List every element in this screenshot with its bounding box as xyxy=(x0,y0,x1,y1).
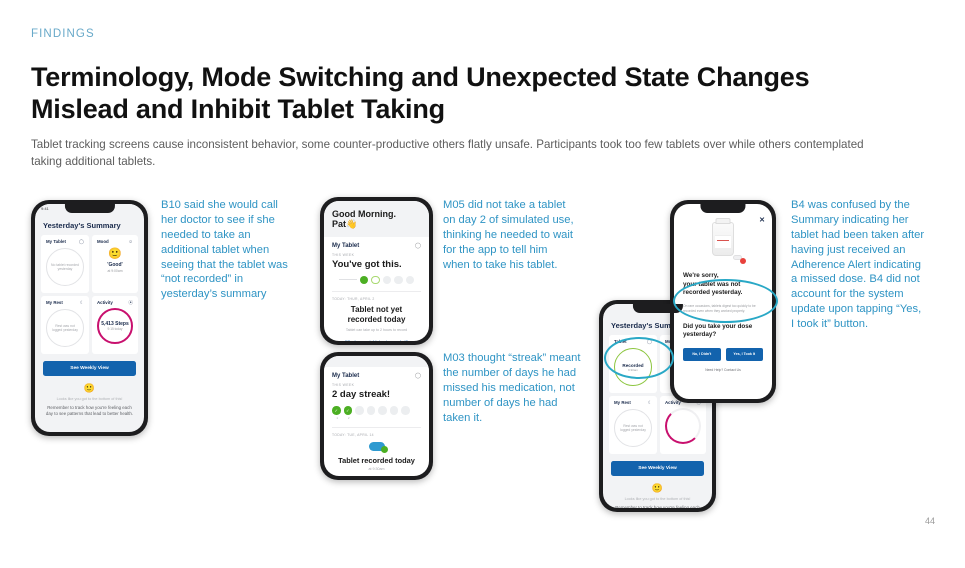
see-weekly-view-button[interactable]: See Weekly View xyxy=(611,461,704,476)
streak-dot[interactable] xyxy=(390,406,399,415)
status-sub: Tablet can take up to 2 hours to record xyxy=(334,328,419,333)
headline: 2 day streak! xyxy=(332,389,421,400)
card-my-rest[interactable]: My Rest ☾ Rest was not logged yesterday xyxy=(41,296,89,354)
greeting-line-2: Pat👋 xyxy=(332,219,421,229)
mood-emoji: 🙂 xyxy=(97,249,133,260)
tablet-recorded-ring: Recorded 9:30am xyxy=(614,348,652,386)
streak-dot-filled[interactable]: ✓ xyxy=(332,406,341,415)
streak-dot-filled[interactable]: ✓ xyxy=(344,406,353,415)
alert-paragraph: On rare occasions, tablets digest too qu… xyxy=(683,304,763,314)
annotation-b10: B10 said she would call her doctor to se… xyxy=(161,198,293,302)
see-weekly-view-button[interactable]: See Weekly View xyxy=(43,361,136,376)
annotation-m03: M03 thought “streak” meant the number of… xyxy=(443,351,581,425)
phone4-footer: 🙂 Looks like you got to the bottom of th… xyxy=(603,476,712,508)
streak-dot[interactable] xyxy=(378,406,387,415)
dots-leading-line xyxy=(339,279,357,280)
annotation-m05: M05 did not take a tablet on day 2 of si… xyxy=(443,198,577,272)
date-row: TODAY: TUE, APRIL 14 xyxy=(324,428,429,437)
card-my-rest[interactable]: My Rest ☾ Rest was not logged yesterday xyxy=(609,396,657,454)
card-tablet[interactable]: Tablet ◯ Recorded 9:30am xyxy=(609,335,657,393)
tablet-ring-text: No tablet recorded yesterday xyxy=(50,263,80,272)
bottle-label xyxy=(715,235,731,249)
streak-day-numbers: 1 2 xyxy=(332,416,421,420)
recorded-status: Tablet recorded today xyxy=(324,456,429,465)
footer-line-2: Remember to track how you're feeling eac… xyxy=(613,505,702,508)
phone-mockup-summary-not-recorded: 9:41 Yesterday's Summary My Tablet ◯ No … xyxy=(31,200,148,436)
tablet-status-block: Tablet not yet recorded today Tablet can… xyxy=(324,301,429,333)
phone-notch xyxy=(632,304,682,313)
status-time: 9:41 xyxy=(41,206,49,211)
streak-dot[interactable] xyxy=(383,276,392,285)
smiley-icon: ☺ xyxy=(128,239,133,244)
page-title: Terminology, Mode Switching and Unexpect… xyxy=(31,62,911,126)
greeting-bar: Good Morning. Pat👋 xyxy=(324,201,429,237)
rest-ring-empty: Rest was not logged yesterday xyxy=(46,309,84,347)
phone1-card-grid: My Tablet ◯ No tablet recorded yesterday… xyxy=(35,235,144,354)
phone5-screen: ✕ We're sorry, your tablet was not recor… xyxy=(674,204,772,399)
status-bar xyxy=(324,356,429,367)
card-title: My Tablet xyxy=(332,243,359,249)
rest-ring-empty: Rest was not logged yesterday xyxy=(614,409,652,447)
footer-emoji: 🙂 xyxy=(45,383,134,394)
phone3-screen: My Tablet ◯ THIS WEEK 2 day streak! ✓ ✓ … xyxy=(324,356,429,476)
day-number: 1 xyxy=(333,416,342,420)
mood-content: 🙂 'Good' at 9:00am xyxy=(97,249,133,273)
footer-line-1: Looks like you got to the bottom of this… xyxy=(613,497,702,501)
card-header-row: My Tablet ◯ xyxy=(332,373,421,379)
tablet-ring-empty: No tablet recorded yesterday xyxy=(46,248,84,286)
card-caption: My Rest xyxy=(614,400,652,405)
footer-line-1: Looks like you got to the bottom of this… xyxy=(45,397,134,401)
tablet-icon: ◯ xyxy=(415,373,421,379)
streak-dots xyxy=(332,276,421,285)
streak-dot[interactable] xyxy=(367,406,376,415)
tablet-ring-sub: 9:30am xyxy=(628,368,638,372)
footer-line-2: Remember to track how you're feeling eac… xyxy=(45,405,134,418)
phone-notch xyxy=(700,204,745,213)
card-my-tablet[interactable]: My Tablet ◯ No tablet recorded yesterday xyxy=(41,235,89,293)
phone2-screen: Good Morning. Pat👋 My Tablet ◯ THIS WEEK… xyxy=(324,201,429,341)
card-mood[interactable]: Mood ☺ 🙂 'Good' at 9:00am xyxy=(92,235,138,293)
streak-dot[interactable] xyxy=(394,276,403,285)
alert-question-1: Did you take your dose xyxy=(683,323,763,332)
headline: You've got this. xyxy=(332,259,421,270)
page-subtitle: Tablet tracking screens cause inconsiste… xyxy=(31,137,876,171)
pill-sensor xyxy=(740,258,746,264)
streak-dot[interactable] xyxy=(406,276,415,285)
this-week-label: THIS WEEK xyxy=(332,383,421,387)
slide: FINDINGS Terminology, Mode Switching and… xyxy=(0,0,965,568)
annotation-b4: B4 was confused by the Summary indicatin… xyxy=(791,198,927,332)
footer-emoji: 🙂 xyxy=(613,483,702,494)
card-activity[interactable]: Activity ⦿ 5,413 Steps 9:15 today xyxy=(92,296,138,354)
tablet-icon: ◯ xyxy=(415,243,421,249)
status-line-2: recorded today xyxy=(334,315,419,325)
moon-icon: ☾ xyxy=(80,300,84,306)
streak-dot[interactable] xyxy=(360,276,369,285)
alert-body: We're sorry, your tablet was not recorde… xyxy=(674,270,772,372)
phone-mockup-adherence-alert: ✕ We're sorry, your tablet was not recor… xyxy=(670,200,776,403)
status-line-1: Tablet not yet xyxy=(334,305,419,315)
phone-mockup-streak: My Tablet ◯ THIS WEEK 2 day streak! ✓ ✓ … xyxy=(320,352,433,480)
phone1-header: Yesterday's Summary xyxy=(35,215,144,235)
alert-headline-3: recorded yesterday. xyxy=(683,289,763,298)
phone-mockup-good-morning: Good Morning. Pat👋 My Tablet ◯ THIS WEEK… xyxy=(320,197,433,345)
alert-headline-1: We're sorry, xyxy=(683,272,763,281)
phone1-footer: 🙂 Looks like you got to the bottom of th… xyxy=(35,376,144,418)
card-activity[interactable]: Activity ⦿ xyxy=(660,396,706,454)
pill-bottle-icon xyxy=(712,222,734,256)
phone1-screen: 9:41 Yesterday's Summary My Tablet ◯ No … xyxy=(35,204,144,432)
mood-value: 'Good' xyxy=(97,262,133,268)
card-caption: My Rest xyxy=(46,300,84,305)
contact-us-link[interactable]: Need Help? Contact Us xyxy=(683,368,763,372)
rest-ring-text: Rest was not logged yesterday xyxy=(50,324,80,333)
bottle-cap xyxy=(716,218,731,224)
day-number: 2 xyxy=(345,416,354,420)
tablet-recorded-block: Tablet recorded today at 9:30am xyxy=(324,437,429,471)
activity-ring xyxy=(665,408,701,444)
date-row: TODAY: THUR, APRIL 2 xyxy=(324,292,429,301)
greeting-name: Pat xyxy=(332,219,346,229)
tablet-icon: ◯ xyxy=(647,339,652,345)
tablet-recorded-icon xyxy=(369,442,385,451)
page-number: 44 xyxy=(925,516,935,526)
eyebrow-label: FINDINGS xyxy=(31,28,95,40)
card-title: My Tablet xyxy=(332,373,359,379)
alert-buttons: No, I Didn't Yes, I Took It xyxy=(683,348,763,361)
card-header-row: My Tablet ◯ xyxy=(332,243,421,249)
greeting-line-1: Good Morning. xyxy=(332,209,421,219)
streak-dot[interactable] xyxy=(401,406,410,415)
moon-icon: ☾ xyxy=(648,400,652,406)
yes-i-took-it-button[interactable]: Yes, I Took It xyxy=(726,348,764,361)
my-tablet-card[interactable]: My Tablet ◯ THIS WEEK You've got this. xyxy=(324,237,429,293)
why-not-recorded-link[interactable]: Why has my tablet not recorded? xyxy=(324,339,429,341)
activity-ring: 5,413 Steps 9:15 today xyxy=(97,308,133,344)
pill-bottle-image xyxy=(674,204,772,270)
alert-question-2: yesterday? xyxy=(683,331,763,340)
close-icon[interactable]: ✕ xyxy=(759,216,765,224)
streak-dots: ✓ ✓ xyxy=(332,406,421,415)
recorded-time: at 9:30am xyxy=(324,467,429,471)
this-week-label: THIS WEEK xyxy=(332,253,421,257)
mood-time: at 9:00am xyxy=(97,269,133,273)
shoe-icon: ⦿ xyxy=(128,300,133,306)
phone-notch xyxy=(64,204,114,213)
loose-pills-icon xyxy=(733,255,746,264)
my-tablet-card[interactable]: My Tablet ◯ THIS WEEK 2 day streak! ✓ ✓ … xyxy=(324,367,429,428)
wave-icon: 👋 xyxy=(346,219,357,229)
activity-unit: 9:15 today xyxy=(108,327,123,331)
tablet-icon: ◯ xyxy=(79,239,84,245)
alert-headline-2: your tablet was not xyxy=(683,281,763,290)
no-i-didnt-button[interactable]: No, I Didn't xyxy=(683,348,721,361)
rest-ring-text: Rest was not logged yesterday xyxy=(618,424,648,433)
streak-dot[interactable] xyxy=(355,406,364,415)
streak-dot-current[interactable] xyxy=(371,276,380,285)
